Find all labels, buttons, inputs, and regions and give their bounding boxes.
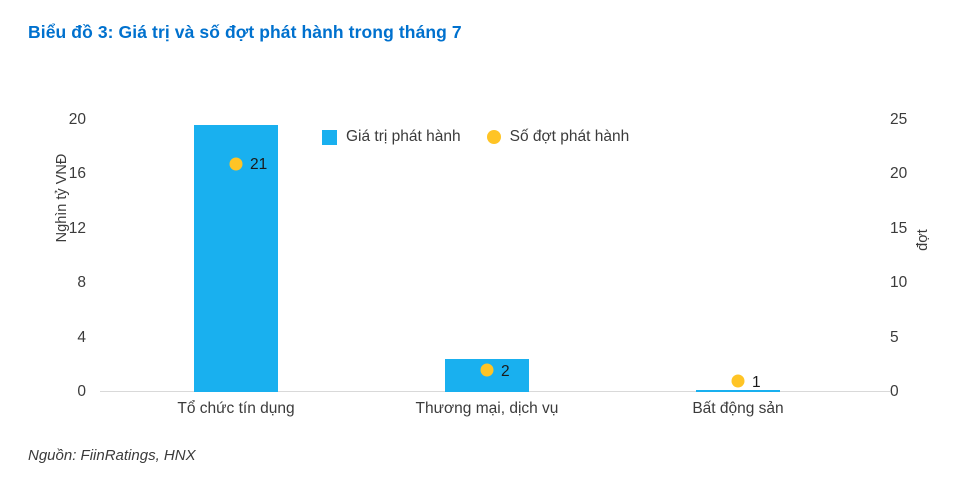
y-axis-right-title: đợt — [915, 205, 931, 275]
y-tick-right-5: 25 — [890, 111, 930, 129]
x-tick-label-0: Tổ chức tín dụng — [177, 400, 294, 418]
y-tick-right-4: 20 — [890, 165, 930, 183]
page-title: Biểu đồ 3: Giá trị và số đợt phát hành t… — [28, 22, 462, 43]
dot-label-bat-dong-san: 1 — [752, 374, 761, 392]
x-tick-label-1: Thương mại, dịch vụ — [416, 400, 559, 418]
dot-label-thuong-mai-dich-vu: 2 — [501, 363, 510, 381]
y-tick-left-3: 12 — [26, 220, 86, 238]
dot-label-to-chuc-tin-dung: 21 — [250, 156, 267, 174]
x-tick-label-2: Bất động sản — [692, 400, 783, 418]
dot-marker-thuong-mai-dich-vu — [481, 364, 494, 377]
dot-marker-bat-dong-san — [732, 375, 745, 388]
y-tick-left-4: 16 — [26, 165, 86, 183]
y-tick-left-5: 20 — [26, 111, 86, 129]
bar-bat-dong-san — [696, 390, 780, 393]
y-tick-left-1: 4 — [26, 329, 86, 347]
y-tick-right-2: 10 — [890, 274, 930, 292]
dot-marker-to-chuc-tin-dung — [230, 157, 243, 170]
y-tick-right-1: 5 — [890, 329, 930, 347]
plot-area: 21 2 1 — [100, 120, 890, 392]
source-note: Nguồn: FiinRatings, HNX — [28, 447, 196, 464]
y-tick-left-2: 8 — [26, 274, 86, 292]
y-axis-left-ticks: 0 4 8 12 16 20 — [24, 120, 86, 392]
y-tick-right-0: 0 — [890, 383, 930, 401]
y-tick-left-0: 0 — [26, 383, 86, 401]
chart-page: Biểu đồ 3: Giá trị và số đợt phát hành t… — [0, 0, 972, 488]
